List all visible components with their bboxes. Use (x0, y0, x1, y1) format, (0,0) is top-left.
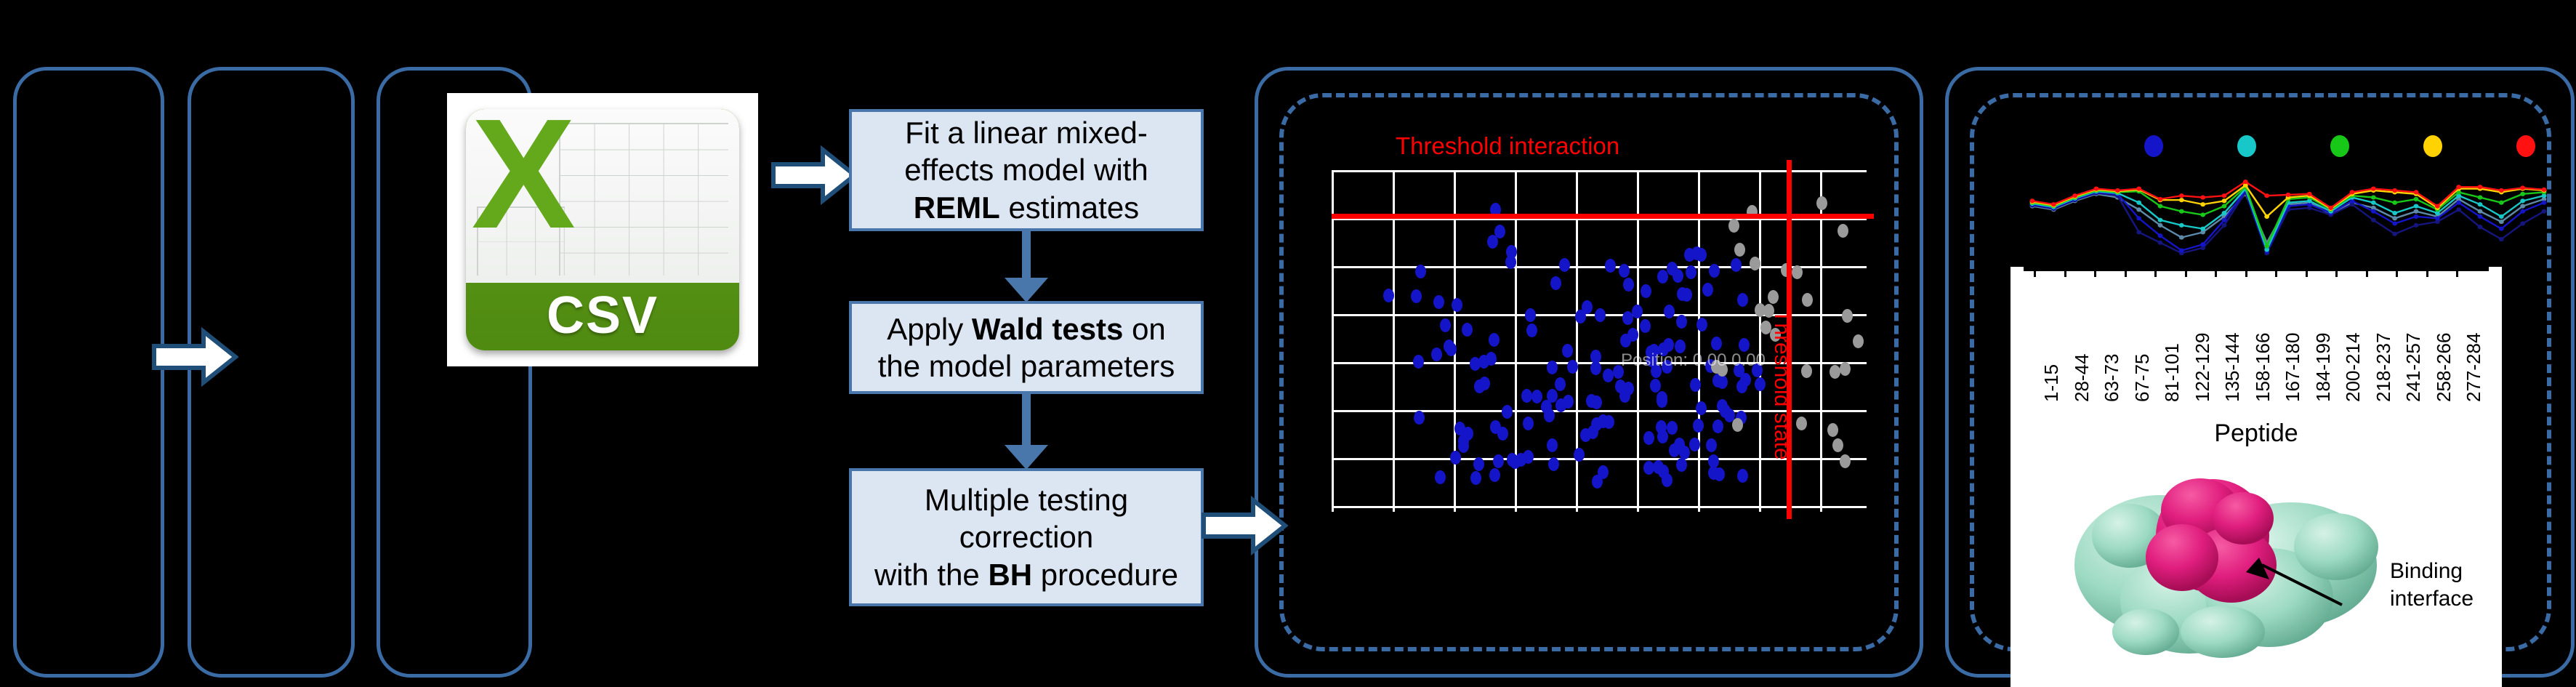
scatter-point (1562, 344, 1573, 358)
scatter-point-grey (1750, 257, 1760, 270)
peptide-tick (2245, 267, 2247, 277)
scatter-point (1559, 258, 1570, 272)
proc3-line2: correction (959, 520, 1093, 554)
peptide-axis-title: Peptide (2011, 419, 2502, 448)
peptide-tick (2426, 267, 2428, 277)
scatter-point (1702, 283, 1713, 297)
threshold-interaction-line (1332, 214, 1874, 219)
peptide-chart-lines (2006, 160, 2559, 259)
scatter-point (1462, 323, 1473, 337)
scatter-point-grey (1792, 265, 1803, 279)
peptide-axis-panel: 0.0 1-1528-4463-7367-7581-101122-129135-… (2011, 267, 2502, 687)
scatter-point (1714, 467, 1725, 481)
scatter-point (1603, 369, 1614, 382)
peptide-series-point (2179, 209, 2184, 214)
peptide-tick (2306, 267, 2308, 277)
peptide-label-67-75: 67-75 (2131, 354, 2154, 403)
scatter-point (1693, 419, 1704, 433)
proc2-line2: the model parameters (878, 349, 1175, 383)
scatter-point (1494, 225, 1505, 238)
peptide-tick (2094, 267, 2096, 277)
protein-epitope-surface (2146, 478, 2277, 603)
peptide-series-point (2542, 201, 2547, 205)
scatter-point (1582, 300, 1593, 314)
peptide-series-point (2414, 223, 2419, 228)
scatter-point (1502, 405, 1513, 419)
peptide-series-point (2222, 218, 2227, 222)
peptide-label-218-237: 218-237 (2372, 333, 2395, 402)
scatter-point (1657, 394, 1667, 408)
peptide-series-point (2478, 195, 2483, 199)
peptide-series-point (2179, 223, 2184, 228)
scatter-point-grey (1853, 334, 1864, 348)
scatter-point (1521, 389, 1532, 403)
scatter-point (1413, 355, 1424, 369)
peptide-series-point (2115, 188, 2120, 193)
scatter-point (1450, 451, 1461, 465)
peptide-chart-legend (2006, 135, 2559, 160)
scatter-point (1489, 468, 1500, 482)
proc3-line3-suffix: procedure (1032, 558, 1178, 592)
peptide-series-point (2222, 204, 2227, 208)
scatter-point (1435, 470, 1446, 484)
scatter-point (1605, 259, 1616, 273)
scatter-point (1627, 328, 1638, 342)
scatter-point (1555, 377, 1566, 391)
scatter-point (1657, 430, 1668, 443)
scatter-point (1590, 361, 1601, 375)
peptide-label-28-44: 28-44 (2071, 354, 2093, 403)
scatter-point (1737, 469, 1748, 483)
flow-arrow-3 (1201, 496, 1288, 555)
scatter-point (1676, 458, 1687, 472)
scatter-point (1489, 333, 1500, 347)
scatter-point (1696, 401, 1707, 415)
peptide-series-point (2371, 187, 2376, 191)
peptide-series-point (2158, 218, 2163, 222)
peptide-series-point (2456, 185, 2461, 189)
peptide-series-point (2499, 237, 2504, 241)
peptide-label-200-214: 200-214 (2342, 333, 2364, 402)
scatter-point (1567, 360, 1578, 374)
peptide-series-point (2478, 214, 2483, 219)
scatter-point (1574, 448, 1585, 462)
peptide-tick (2034, 267, 2036, 277)
connector-line-1 (1022, 231, 1031, 282)
scatter-point-grey (1827, 423, 1838, 437)
scatter-point (1667, 262, 1678, 276)
proc2-prefix: Apply (887, 312, 972, 346)
peptide-series-point (2200, 202, 2205, 206)
peptide-series-point (2478, 225, 2483, 229)
scatter-point (1643, 431, 1654, 445)
peptide-series-point (2414, 214, 2419, 219)
peptide-series-point (2414, 197, 2419, 201)
scatter-ghost-readout: Position: 0.00 0.00 (1621, 350, 1766, 371)
scatter-point (1544, 409, 1555, 422)
peptide-series-point (2456, 207, 2461, 212)
peptide-tick (2154, 267, 2157, 277)
scatter-point (1662, 473, 1673, 487)
scatter-point (1470, 471, 1481, 485)
process-box-multiple-testing[interactable]: Multiple testing correction with the BH … (849, 468, 1204, 606)
proc2-bold: Wald tests (972, 312, 1123, 346)
scatter-point (1623, 382, 1634, 395)
peptide-series-point (2371, 195, 2376, 199)
proc1-line3-tail: estimates (1000, 190, 1139, 225)
peptide-tick (2125, 267, 2127, 277)
scatter-point (1689, 438, 1700, 451)
peptide-label-122-129: 122-129 (2191, 333, 2214, 402)
scatter-point (1664, 305, 1675, 318)
scatter-point (1497, 427, 1508, 441)
scatter-point-grey (1768, 290, 1779, 304)
scatter-point (1411, 289, 1422, 303)
peptide-tick (2215, 267, 2217, 277)
peptide-label-258-266: 258-266 (2433, 333, 2455, 402)
peptide-label-167-180: 167-180 (2282, 333, 2304, 402)
peptide-series-point (2158, 233, 2163, 238)
legend-dot-t1 (2144, 135, 2163, 157)
scatter-point (1473, 457, 1484, 471)
scatter-point (1669, 443, 1680, 457)
peptide-label-135-144: 135-144 (2221, 333, 2244, 402)
scatter-point-grey (1830, 365, 1840, 379)
peptide-series-point (2392, 201, 2397, 205)
peptide-series-point (2179, 198, 2184, 202)
peptide-label-158-166: 158-166 (2252, 333, 2274, 402)
peptide-series-point (2222, 193, 2227, 198)
peptide-series-point (2051, 202, 2056, 206)
scatter-point-grey (1732, 418, 1743, 432)
peptide-series-point (2392, 188, 2397, 193)
peptide-series-point (2158, 241, 2163, 245)
legend-dot-t5 (2516, 135, 2535, 157)
peptide-series-point (2094, 187, 2099, 191)
scatter-point (1433, 295, 1444, 309)
scatter-point (1737, 293, 1748, 307)
scatter-point (1711, 337, 1722, 350)
scatter-point-grey (1802, 293, 1813, 307)
connector-line-2 (1022, 394, 1031, 449)
peptide-series-point (2499, 227, 2504, 231)
peptide-series-point (2200, 227, 2205, 231)
threshold-state-label: Threshold state (1769, 310, 1794, 460)
peptide-series-point (2179, 248, 2184, 252)
peptide-series-point (2222, 223, 2227, 228)
peptide-series-point (2542, 188, 2547, 192)
peptide-series-point (2136, 207, 2141, 212)
peptide-series-point (2136, 216, 2141, 220)
scatter-point-grey (1796, 417, 1807, 430)
peptide-label-81-101: 81-101 (2161, 343, 2183, 402)
peptide-series-point (2222, 198, 2227, 203)
peptide-series-point (2030, 198, 2035, 203)
peptide-series-point (2328, 206, 2333, 210)
scatter-point (1383, 289, 1394, 302)
scatter-point (1709, 264, 1720, 278)
scatter-point (1563, 395, 1574, 409)
peptide-series-point (2414, 209, 2419, 214)
peptide-tick (2396, 267, 2398, 277)
peptide-series-point (2478, 185, 2483, 189)
scatter-point (1643, 461, 1654, 475)
scatter-title: Threshold interaction (1396, 132, 1619, 160)
scatter-point (1415, 265, 1426, 278)
scatter-point-grey (1816, 196, 1827, 210)
peptide-series-point (2371, 201, 2376, 205)
scatter-point (1595, 308, 1606, 322)
peptide-label-1-15: 1-15 (2040, 364, 2063, 402)
peptide-series-point (2286, 193, 2291, 197)
peptide-series-point (2179, 236, 2184, 240)
peptide-series-point (2200, 195, 2205, 199)
peptide-tick (2275, 267, 2277, 277)
scatter-point (1516, 453, 1526, 467)
peptide-tick (2366, 267, 2368, 277)
scatter-point (1526, 324, 1537, 337)
scatter-point (1712, 419, 1723, 433)
peptide-series-point (2136, 230, 2141, 234)
proc1-bold: REML (914, 190, 1000, 225)
peptide-series-point (2478, 209, 2483, 214)
peptide-series-point (2222, 211, 2227, 215)
csv-file-icon: X CSV (447, 93, 758, 366)
scatter-point (1493, 454, 1504, 468)
peptide-series-point (2499, 188, 2504, 193)
peptide-series-point (2243, 180, 2248, 184)
peptide-series-point (2264, 244, 2269, 249)
scatter-point (1641, 284, 1651, 298)
scatter-point (1590, 350, 1601, 363)
scatter-point-grey (1840, 362, 1851, 376)
scatter-point (1690, 378, 1701, 392)
scatter-point-grey (1801, 364, 1812, 378)
scatter-point (1452, 298, 1462, 312)
legend-dot-t4 (2423, 135, 2442, 157)
flow-arrow-1 (151, 327, 238, 387)
peptide-series-point (2520, 209, 2525, 214)
proc3-line1: Multiple testing (925, 483, 1128, 517)
scatter-plot-area[interactable]: Position: 0.00 0.00 Threshold state (1332, 170, 1867, 512)
peptide-series-point (2264, 214, 2269, 219)
scatter-point (1632, 305, 1643, 318)
scatter-point (1667, 421, 1678, 435)
scatter-point (1619, 264, 1630, 278)
scatter-point (1550, 276, 1561, 290)
peptide-series-point (2200, 212, 2205, 217)
peptide-series-point (2158, 197, 2163, 201)
peptide-x-axis (2024, 267, 2489, 271)
peptide-series-point (2478, 202, 2483, 206)
proc1-line1: Fit a linear mixed- (905, 116, 1148, 150)
peptide-series-point (2520, 185, 2525, 190)
binding-line-2: interface (2390, 585, 2474, 613)
peptide-series-point (2520, 192, 2525, 196)
scatter-point (1440, 318, 1451, 332)
scatter-point (1736, 379, 1747, 393)
peptide-series-point (2414, 204, 2419, 208)
scatter-point (1548, 457, 1559, 471)
peptide-series-point (2371, 218, 2376, 222)
peptide-tick (2335, 267, 2338, 277)
peptide-series-point (2435, 204, 2440, 208)
scatter-point-grey (1755, 303, 1766, 317)
scatter-point-grey (1728, 219, 1739, 233)
peptide-series-point (2520, 198, 2525, 203)
peptide-series-point (2371, 209, 2376, 214)
scatter-point (1657, 270, 1668, 284)
scatter-point-grey (1838, 224, 1848, 238)
scatter-point (1598, 465, 1609, 479)
scatter-point (1640, 319, 1651, 333)
peptide-series-point (2520, 204, 2525, 208)
peptide-series-point (2499, 214, 2504, 219)
peptide-tick (2456, 267, 2458, 277)
peptide-series-point (2499, 201, 2504, 205)
peptide-series-point (2307, 192, 2312, 196)
figure-root: X CSV Fit a linear mixed- effects model … (0, 0, 2576, 687)
peptide-series-point (2264, 193, 2269, 198)
scatter-point (1506, 245, 1517, 259)
peptide-series-point (2520, 221, 2525, 225)
scatter-point (1414, 411, 1425, 425)
peptide-series-point (2542, 209, 2547, 214)
peptide-line-chart (2006, 135, 2559, 259)
binding-line-1: Binding (2390, 558, 2474, 585)
peptide-series-point (2158, 223, 2163, 228)
peptide-series-point (2350, 190, 2355, 194)
scatter-point (1431, 347, 1442, 361)
scatter-point-grey (1840, 454, 1851, 468)
scatter-point (1720, 404, 1731, 418)
process-box-wald-tests[interactable]: Apply Wald tests on the model parameters (849, 301, 1204, 394)
scatter-point (1623, 278, 1634, 292)
scatter-point (1591, 395, 1602, 409)
proc3-bold: BH (988, 558, 1032, 592)
scatter-point (1446, 342, 1457, 356)
scatter-point (1580, 428, 1591, 442)
peptide-series-point (2136, 187, 2141, 191)
peptide-label-241-257: 241-257 (2402, 333, 2425, 402)
stage-panel-1 (13, 67, 164, 678)
scatter-point-grey (1832, 438, 1843, 452)
csv-grid-main (559, 123, 728, 276)
protein-structure-image (2051, 449, 2400, 667)
scatter-point (1622, 311, 1633, 325)
scatter-point (1676, 315, 1687, 329)
peptide-series-point (2456, 201, 2461, 205)
peptide-series-point (2072, 193, 2077, 198)
scatter-point (1479, 377, 1490, 390)
binding-interface-annotation: Binding interface (2390, 558, 2474, 612)
scatter-point (1755, 377, 1766, 391)
peptide-series-point (2392, 211, 2397, 215)
scatter-point (1547, 438, 1558, 452)
scatter-point (1523, 417, 1534, 430)
proc1-line2: effects model with (904, 153, 1148, 187)
scatter-point (1696, 318, 1707, 332)
peptide-series-point (2158, 204, 2163, 208)
peptide-series-point (2435, 216, 2440, 220)
scatter-point (1686, 265, 1696, 279)
peptide-series-point (2392, 232, 2397, 236)
proc2-suffix: on (1123, 312, 1165, 346)
peptide-label-63-73: 63-73 (2101, 354, 2123, 403)
peptide-series-point (2200, 242, 2205, 246)
peptide-series-point (2179, 193, 2184, 198)
scatter-plot-panel: Threshold interaction Position: 0.00 0.0… (1308, 132, 1875, 541)
scatter-point (1547, 361, 1558, 374)
csv-x-glyph: X (472, 109, 571, 252)
peptide-label-184-199: 184-199 (2312, 333, 2335, 402)
scatter-point (1650, 379, 1661, 393)
scatter-point (1478, 355, 1489, 369)
scatter-point-grey (1734, 243, 1745, 257)
scatter-point (1731, 258, 1742, 272)
peptide-series-point (2499, 220, 2504, 224)
connector-arrowhead-2 (1005, 445, 1048, 470)
scatter-point (1691, 246, 1702, 260)
scatter-point (1458, 439, 1469, 453)
peptide-label-277-284: 277-284 (2463, 333, 2485, 402)
peptide-series-point (2136, 201, 2141, 205)
peptide-tick (2185, 267, 2187, 277)
proc3-line3-prefix: with the (874, 558, 988, 592)
flow-arrow-2 (770, 145, 858, 205)
connector-arrowhead-1 (1005, 278, 1048, 302)
peptide-series-point (2392, 216, 2397, 220)
scatter-point-grey (1842, 309, 1853, 323)
scatter-point (1525, 308, 1536, 322)
peptide-series-point (2392, 221, 2397, 225)
legend-dot-t2 (2237, 135, 2256, 157)
csv-icon-label: CSV (466, 286, 739, 345)
scatter-point (1531, 390, 1542, 403)
process-box-fit-model[interactable]: Fit a linear mixed- effects model with R… (849, 109, 1204, 231)
scatter-point (1706, 438, 1717, 452)
legend-dot-t3 (2330, 135, 2349, 157)
peptide-tick (2064, 267, 2066, 277)
peptide-series-point (2414, 190, 2419, 194)
